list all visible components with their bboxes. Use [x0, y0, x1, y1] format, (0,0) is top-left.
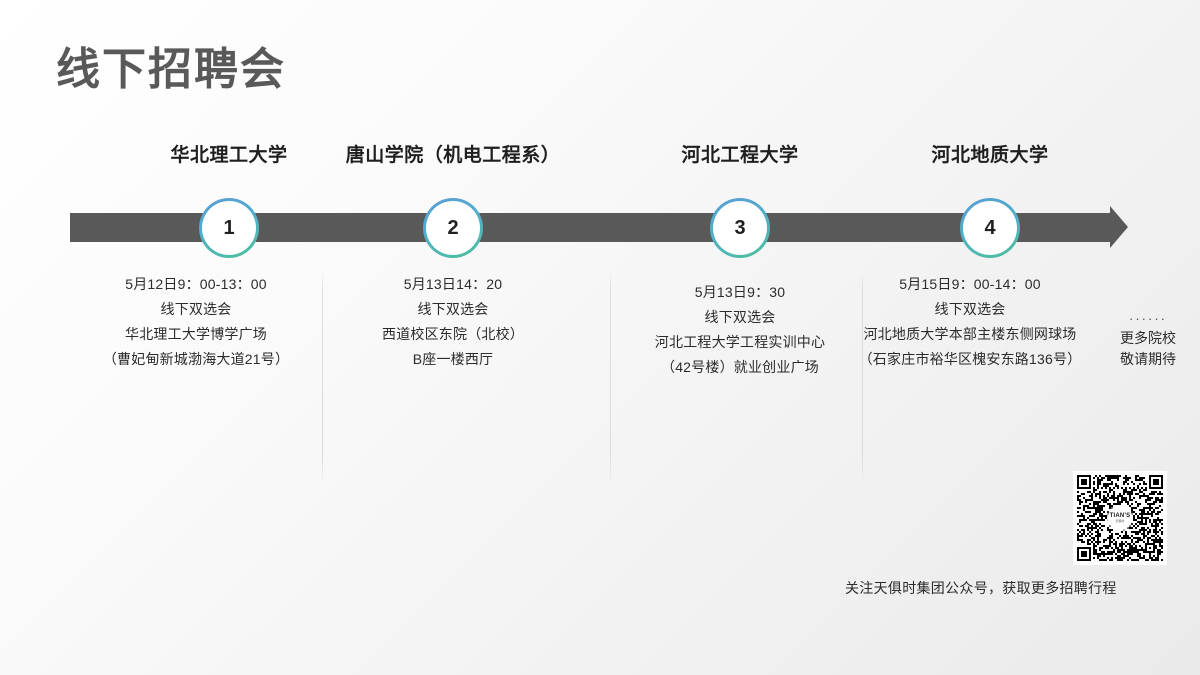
timeline-node-marker[interactable]: 1 — [199, 198, 259, 258]
timeline-node-3[interactable]: 河北工程大学 3 — [620, 140, 860, 167]
qr-code[interactable]: TIAN'S 天俱时 — [1073, 471, 1167, 565]
qr-code-logo: TIAN'S 天俱时 — [1108, 506, 1132, 530]
timeline-node-label: 华北理工大学 — [109, 140, 349, 167]
detail-line-address: （石家庄市裕华区槐安东路136号） — [820, 347, 1120, 372]
timeline-node-label: 河北工程大学 — [620, 140, 860, 167]
detail-column-2: 5月13日14：20 线下双选会 西道校区东院（北校） B座一楼西厅 — [318, 272, 588, 372]
detail-line-venue: 华北理工大学博学广场 — [61, 322, 331, 347]
timeline-node-number: 4 — [960, 198, 1020, 258]
timeline-node-marker[interactable]: 4 — [960, 198, 1020, 258]
detail-columns: 5月12日9：00-13：00 线下双选会 华北理工大学博学广场 （曹妃甸新城渤… — [0, 272, 1200, 487]
page-title: 线下招聘会 — [56, 44, 286, 97]
detail-line-datetime: 5月13日14：20 — [318, 272, 588, 297]
more-schools-line-1: 更多院校 — [1108, 328, 1188, 349]
timeline-node-number: 1 — [199, 198, 259, 258]
detail-line-datetime: 5月15日9：00-14：00 — [820, 272, 1120, 297]
timeline: 华北理工大学 1 唐山学院（机电工程系） 2 河北工程大学 3 河北地质大学 4 — [0, 140, 1200, 270]
timeline-node-label: 唐山学院（机电工程系） — [333, 140, 573, 167]
detail-column-1: 5月12日9：00-13：00 线下双选会 华北理工大学博学广场 （曹妃甸新城渤… — [61, 272, 331, 372]
timeline-node-number: 2 — [423, 198, 483, 258]
detail-line-type: 线下双选会 — [820, 297, 1120, 322]
more-schools-line-2: 敬请期待 — [1108, 349, 1188, 370]
timeline-node-marker[interactable]: 3 — [710, 198, 770, 258]
qr-code-canvas: TIAN'S 天俱时 — [1077, 475, 1163, 561]
detail-line-datetime: 5月12日9：00-13：00 — [61, 272, 331, 297]
detail-line-type: 线下双选会 — [318, 297, 588, 322]
qr-caption: 关注天俱时集团公众号，获取更多招聘行程 — [845, 578, 1117, 598]
detail-line-type: 线下双选会 — [61, 297, 331, 322]
timeline-node-number: 3 — [710, 198, 770, 258]
detail-line-address: （曹妃甸新城渤海大道21号） — [61, 347, 331, 372]
timeline-node-4[interactable]: 河北地质大学 4 — [870, 140, 1110, 167]
detail-line-venue: 河北地质大学本部主楼东侧网球场 — [820, 322, 1120, 347]
detail-line-venue: 西道校区东院（北校） — [318, 322, 588, 347]
detail-line-address: B座一楼西厅 — [318, 347, 588, 372]
timeline-arrow-head-icon — [1110, 206, 1128, 248]
slide-root: 线下招聘会 华北理工大学 1 唐山学院（机电工程系） 2 河北工程大学 3 河 — [0, 0, 1200, 675]
more-schools-block: ······ 更多院校 敬请期待 — [1108, 310, 1188, 370]
timeline-node-label: 河北地质大学 — [870, 140, 1110, 167]
detail-column-4: 5月15日9：00-14：00 线下双选会 河北地质大学本部主楼东侧网球场 （石… — [820, 272, 1120, 372]
timeline-node-2[interactable]: 唐山学院（机电工程系） 2 — [333, 140, 573, 167]
timeline-node-1[interactable]: 华北理工大学 1 — [109, 140, 349, 167]
ellipsis-icon: ······ — [1108, 310, 1188, 328]
qr-logo-sub-text: 天俱时 — [1115, 520, 1124, 523]
timeline-node-marker[interactable]: 2 — [423, 198, 483, 258]
